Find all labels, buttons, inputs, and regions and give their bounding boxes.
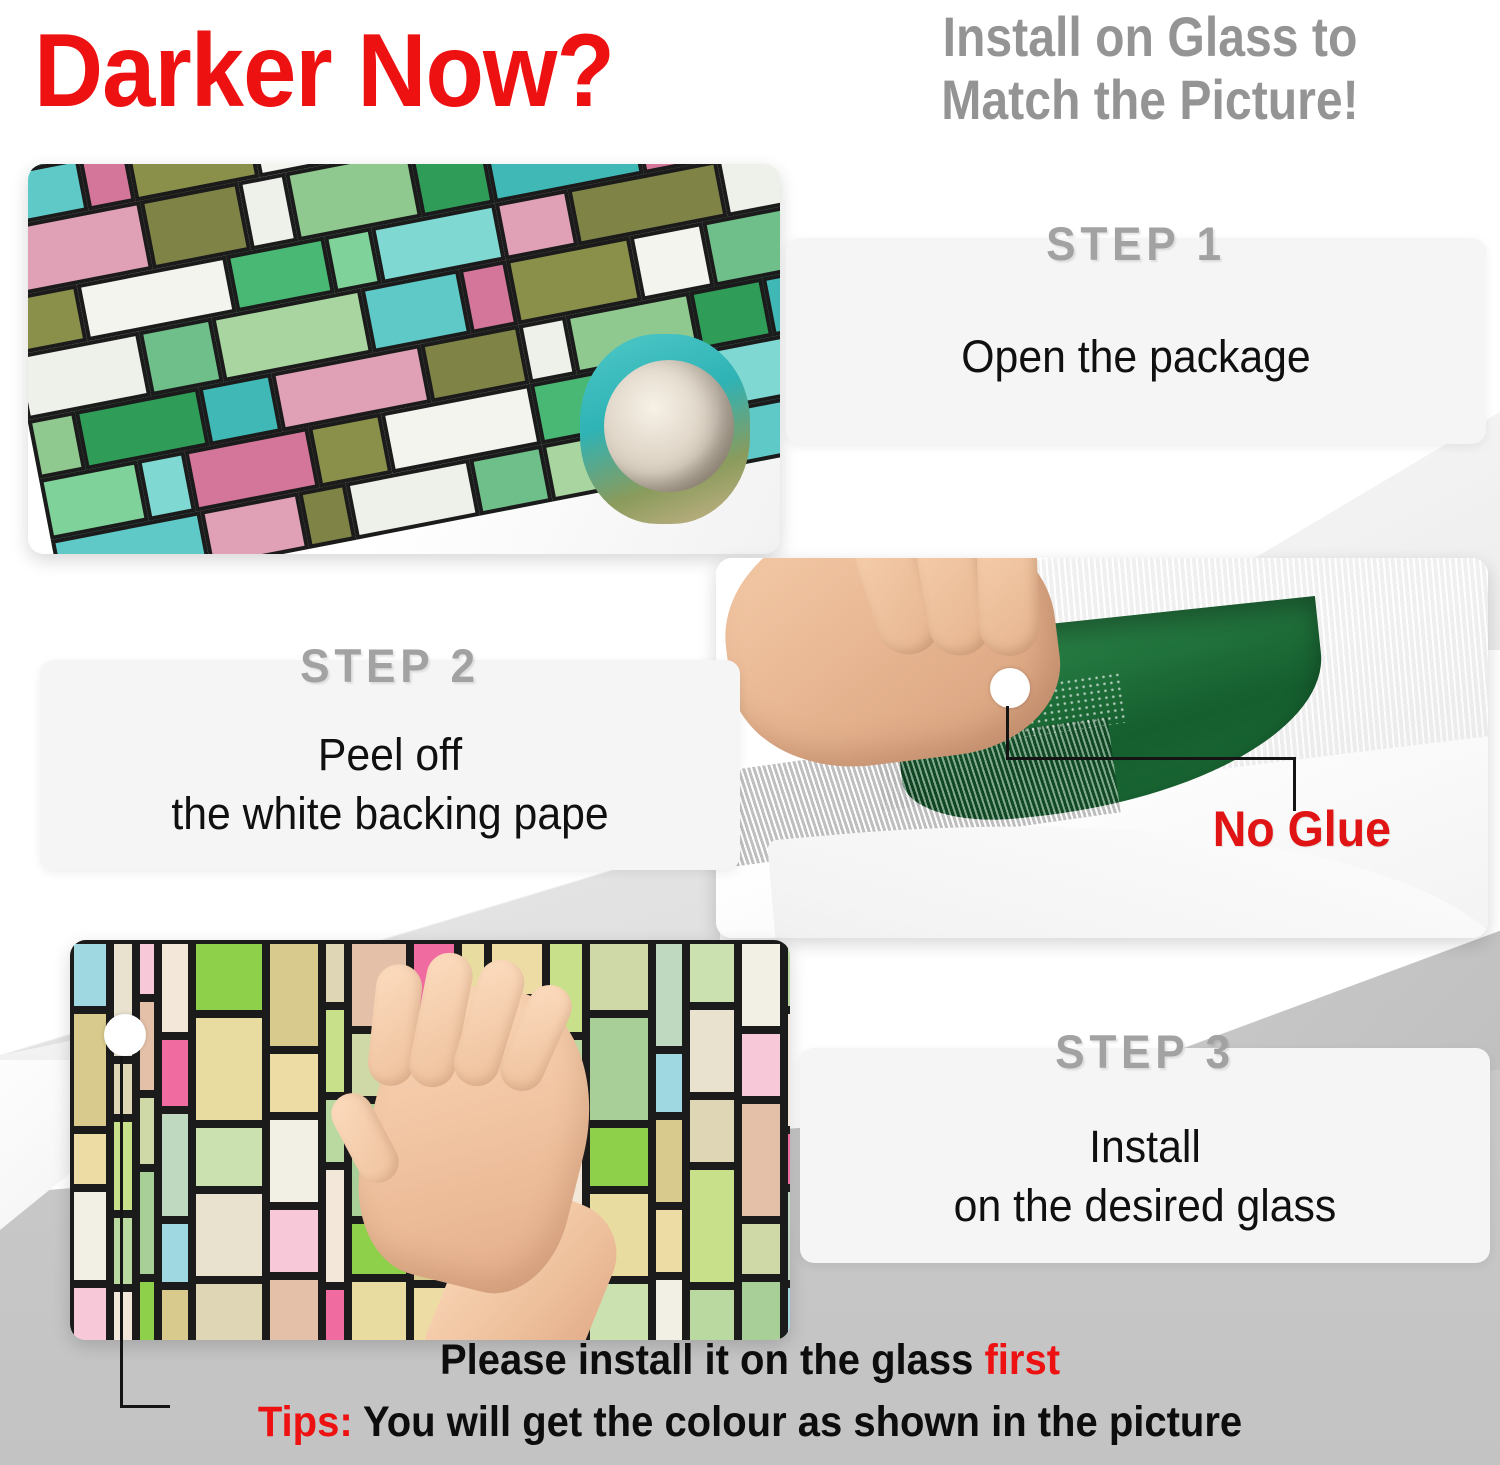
step-2-body-line-2: the white backing pape <box>58 785 723 844</box>
glass-tile <box>686 1006 738 1096</box>
step-1-body-line-1: Open the package <box>804 328 1469 387</box>
no-glue-label: No Glue <box>1213 800 1391 858</box>
infographic-canvas: Darker Now? Install on Glass to Match th… <box>0 0 1500 1465</box>
headline-sub-line-1: Install on Glass to <box>849 6 1451 69</box>
glass-tile <box>469 445 553 516</box>
glass-tile <box>322 1006 348 1096</box>
glass-tile <box>738 1278 784 1340</box>
glass-tile <box>652 1276 686 1340</box>
footer-tips-label: Tips: <box>258 1398 353 1446</box>
no-glue-marker-dot <box>990 668 1030 708</box>
glass-tile <box>70 1284 110 1340</box>
glass-tile <box>652 1050 686 1116</box>
glass-tile <box>266 1050 322 1116</box>
glass-tile <box>738 940 784 1030</box>
footer-install-first: Please install it on the glass first <box>53 1336 1448 1385</box>
step-1-body: Open the package <box>804 328 1469 387</box>
headline-sub-line-2: Match the Picture! <box>849 69 1451 132</box>
glass-tile <box>586 940 652 1014</box>
footer-line1-plain: Please install it on the glass <box>440 1336 985 1384</box>
glass-tile <box>70 1188 110 1284</box>
glass-tile <box>652 940 686 1050</box>
glass-tile <box>586 1124 652 1190</box>
step-3-body: Install on the desired glass <box>817 1118 1473 1235</box>
footer-line1-red: first <box>984 1336 1060 1384</box>
glass-tile <box>738 1030 784 1100</box>
glass-tile <box>266 940 322 1050</box>
headline-install-on-glass: Install on Glass to Match the Picture! <box>849 6 1451 131</box>
glass-tile <box>738 1100 784 1220</box>
glass-tile <box>586 1014 652 1124</box>
footer-tips: Tips: You will get the colour as shown i… <box>53 1398 1448 1447</box>
glass-tile <box>348 1278 410 1340</box>
headline-darker-now: Darker Now? <box>34 14 733 128</box>
photo2-finger-3 <box>976 558 1041 657</box>
glass-tile <box>784 1284 790 1340</box>
step-2-body: Peel off the white backing pape <box>58 726 723 843</box>
tips-marker-dot <box>104 1014 146 1056</box>
photo-film-roll <box>28 164 780 554</box>
glass-tile <box>322 940 348 1006</box>
step-2-title: STEP 2 <box>61 638 719 693</box>
glass-tile <box>322 1166 348 1286</box>
step-2-body-line-1: Peel off <box>58 726 723 785</box>
glass-tile <box>266 1276 322 1340</box>
glass-tile <box>266 1206 322 1276</box>
glass-tile <box>192 940 266 1014</box>
no-glue-leader-vertical-a <box>1006 706 1009 760</box>
glass-tile <box>322 1286 348 1340</box>
glass-tile <box>784 1130 790 1188</box>
step-3-body-line-2: on the desired glass <box>817 1177 1473 1236</box>
glass-tile <box>784 1188 790 1284</box>
glass-tile <box>136 940 158 998</box>
glass-tile <box>158 940 192 1036</box>
glass-tile <box>652 1206 686 1276</box>
step-3-body-line-1: Install <box>817 1118 1473 1177</box>
glass-tile <box>784 1010 790 1130</box>
glass-tile <box>266 1116 322 1206</box>
glass-tile <box>686 1286 738 1340</box>
glass-tile <box>652 1116 686 1206</box>
glass-tile <box>686 1166 738 1286</box>
glass-tile <box>686 940 738 1006</box>
glass-tile <box>70 1130 110 1188</box>
glass-tile <box>784 940 790 1010</box>
glass-tile <box>686 1096 738 1166</box>
step-1-title: STEP 1 <box>807 216 1465 271</box>
no-glue-leader-horizontal <box>1006 757 1296 760</box>
footer-tips-text: You will get the colour as shown in the … <box>353 1398 1243 1446</box>
glass-tile <box>738 1220 784 1278</box>
step-3-title: STEP 3 <box>821 1024 1470 1079</box>
glass-tile <box>70 940 110 1010</box>
photo1-roll-core <box>604 360 734 492</box>
